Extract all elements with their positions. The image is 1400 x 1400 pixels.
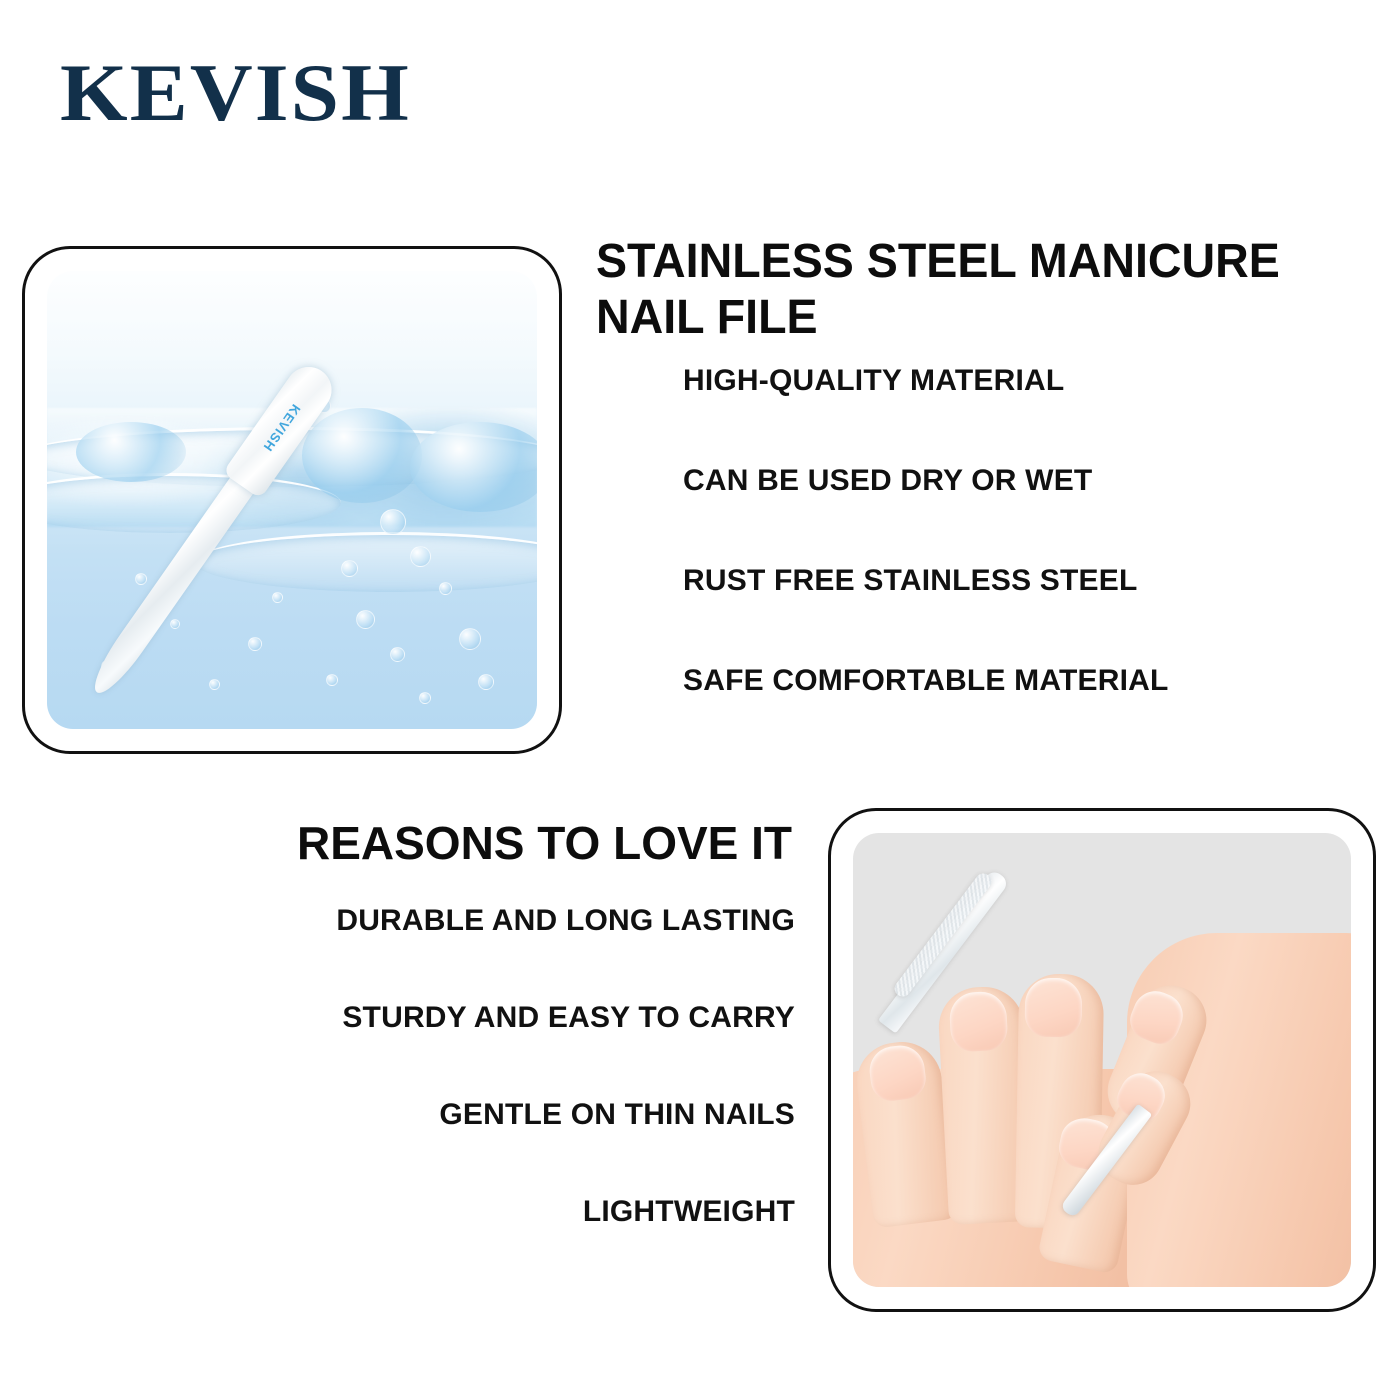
feature-item: CAN BE USED DRY OR WET <box>683 462 1323 562</box>
wave-line <box>194 532 537 592</box>
bubble <box>209 679 220 690</box>
bubble <box>419 692 431 704</box>
bubble <box>390 647 405 662</box>
bubble <box>272 592 283 603</box>
product-water-image-card: KEVISH <box>22 246 562 754</box>
bubble <box>478 674 494 690</box>
hand-usage-image <box>853 833 1351 1287</box>
reason-item: STURDY AND EASY TO CARRY <box>195 999 795 1096</box>
reasons-heading: REASONS TO LOVE IT <box>272 816 792 870</box>
bubble <box>326 674 338 686</box>
page-title: STAINLESS STEEL MANICURE NAIL FILE <box>596 234 1304 346</box>
reason-item: GENTLE ON THIN NAILS <box>195 1096 795 1193</box>
bubble <box>410 546 431 567</box>
water-splash <box>302 408 422 503</box>
bubble <box>439 582 452 595</box>
feature-list: HIGH-QUALITY MATERIAL CAN BE USED DRY OR… <box>683 362 1323 762</box>
infographic-page: KEVISH <box>0 0 1400 1400</box>
reason-item: LIGHTWEIGHT <box>195 1193 795 1290</box>
left-hand-fingernail <box>1024 978 1082 1038</box>
water-scene: KEVISH <box>47 271 537 729</box>
bubble <box>459 628 481 650</box>
feature-item: RUST FREE STAINLESS STEEL <box>683 562 1323 662</box>
left-hand-fingernail <box>949 990 1009 1052</box>
product-water-image: KEVISH <box>47 271 537 729</box>
feature-item: SAFE COMFORTABLE MATERIAL <box>683 662 1323 762</box>
reasons-list: DURABLE AND LONG LASTING STURDY AND EASY… <box>195 902 795 1290</box>
feature-item: HIGH-QUALITY MATERIAL <box>683 362 1323 462</box>
hand-scene <box>853 833 1351 1287</box>
bubble <box>356 610 375 629</box>
reason-item: DURABLE AND LONG LASTING <box>195 902 795 999</box>
brand-logo: KEVISH <box>60 52 411 134</box>
bubble <box>341 560 358 577</box>
hand-usage-image-card <box>828 808 1376 1312</box>
nail-file-abrasive-surface <box>891 871 994 1000</box>
water-splash <box>76 422 186 482</box>
bubble <box>248 637 262 651</box>
